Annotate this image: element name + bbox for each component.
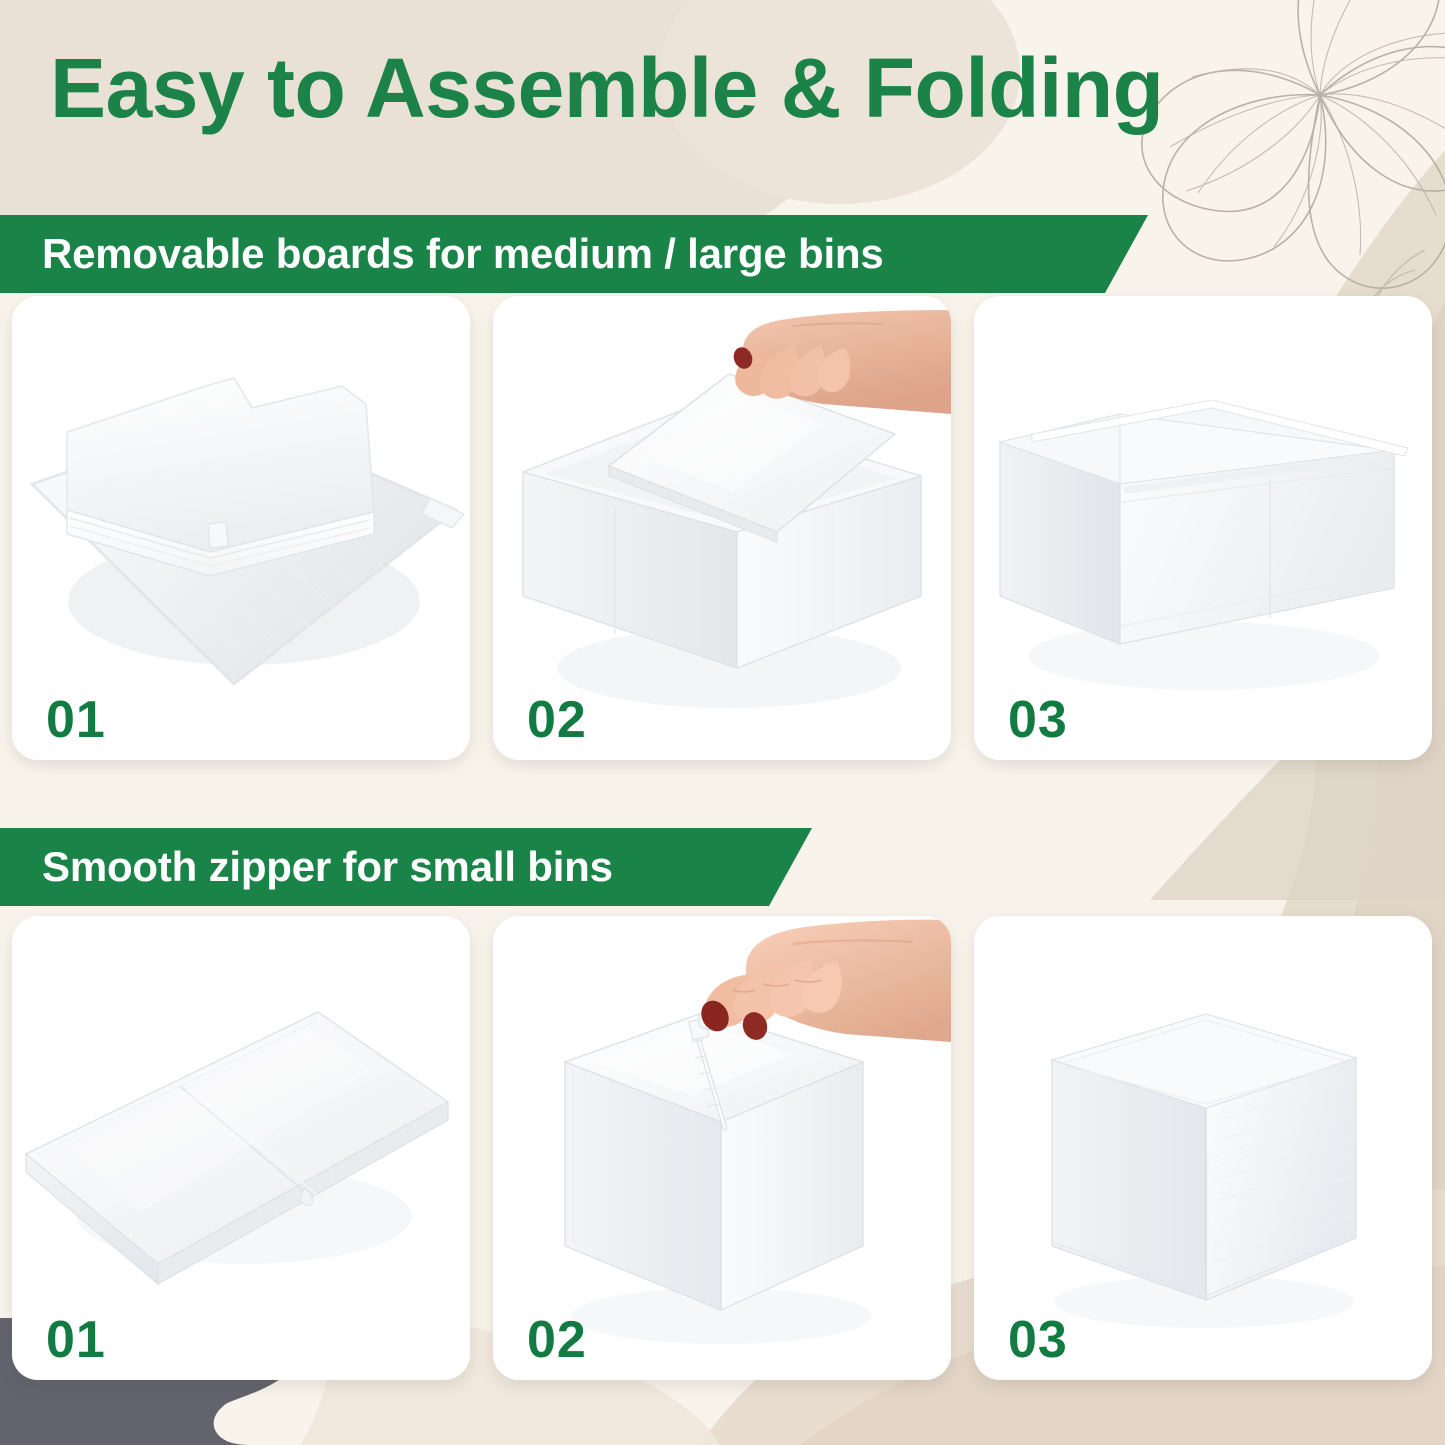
step-number: 02 (527, 1314, 587, 1366)
page-title: Easy to Assemble & Folding (50, 46, 1410, 130)
step-card-1-03[interactable]: 03 (974, 296, 1432, 760)
steps-row-removable-boards: 01 (0, 296, 1445, 761)
step-number: 03 (1008, 694, 1068, 746)
section-banner-smooth-zipper: Smooth zipper for small bins (0, 828, 812, 906)
step-card-1-01[interactable]: 01 (12, 296, 470, 760)
step-card-2-03[interactable]: 03 (974, 916, 1432, 1380)
step-number: 02 (527, 694, 587, 746)
steps-row-smooth-zipper: 01 (0, 916, 1445, 1381)
step-card-2-01[interactable]: 01 (12, 916, 470, 1380)
step-card-2-02[interactable]: 02 (493, 916, 951, 1380)
section-banner-removable-boards: Removable boards for medium / large bins (0, 215, 1148, 293)
step-number: 01 (46, 694, 106, 746)
step-number: 03 (1008, 1314, 1068, 1366)
section-banner-label: Smooth zipper for small bins (0, 846, 613, 888)
step-card-1-02[interactable]: 02 (493, 296, 951, 760)
section-banner-label: Removable boards for medium / large bins (0, 233, 884, 275)
step-number: 01 (46, 1314, 106, 1366)
